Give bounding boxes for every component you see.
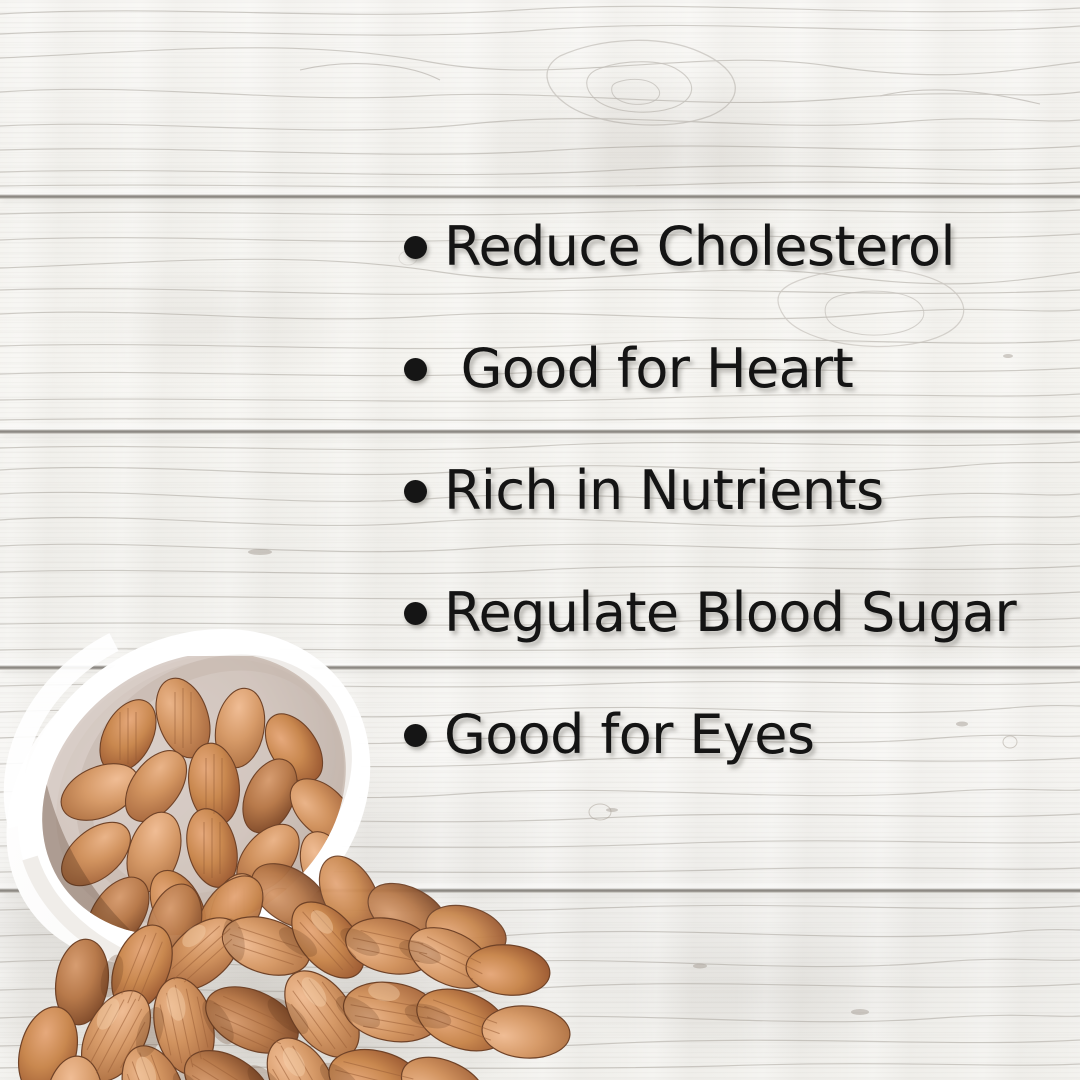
bullet-point-icon [404,358,427,381]
benefit-label: Good for Heart [444,342,853,396]
list-item: Rich in Nutrients [404,430,1064,552]
list-item: Reduce Cholesterol [404,186,1064,308]
list-item: Good for Heart [404,308,1064,430]
bullet-point-icon [404,480,427,503]
infographic-canvas: Reduce Cholesterol Good for Heart Rich i… [0,0,1080,1080]
benefit-label: Rich in Nutrients [444,464,884,518]
bowl-with-almonds-image [0,596,678,1080]
benefit-label: Reduce Cholesterol [444,220,955,274]
bullet-point-icon [404,236,427,259]
